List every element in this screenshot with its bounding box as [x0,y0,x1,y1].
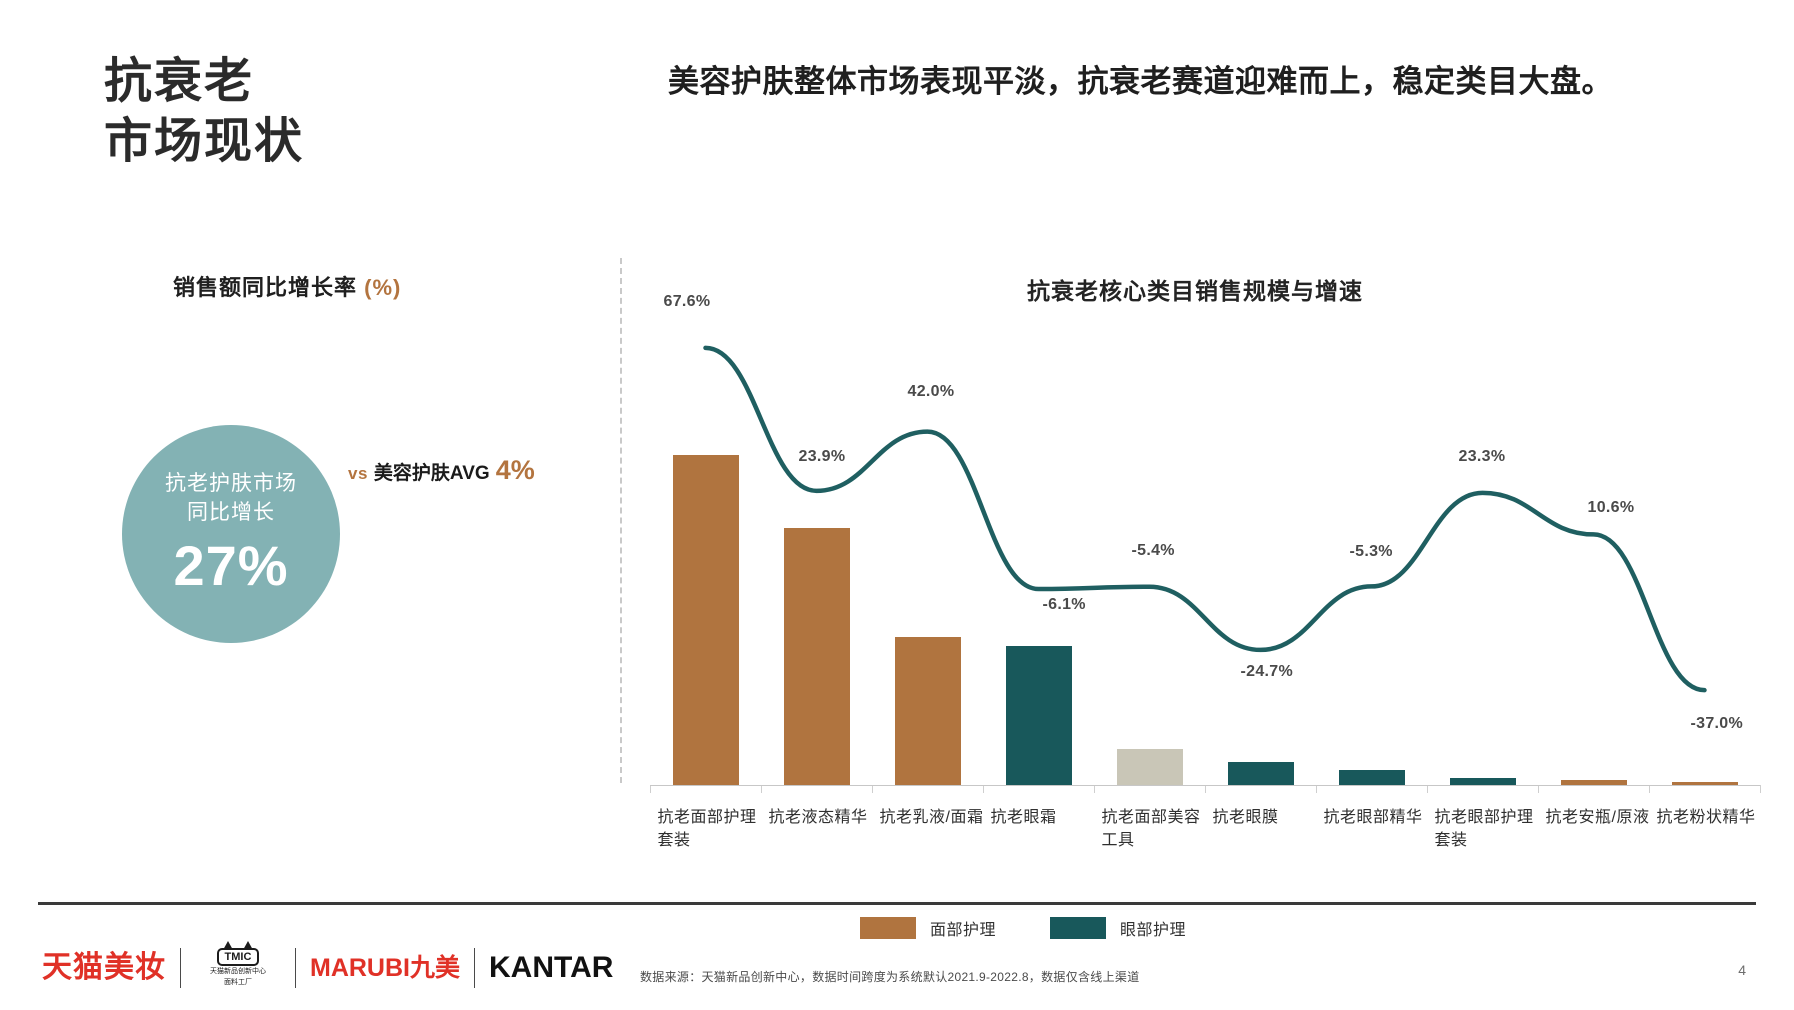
chart-data-label: 67.6% [664,293,711,311]
chart-axis-tick [1427,785,1428,793]
kantar-logo: KANTAR [489,953,613,983]
chart-category-label: 抗老眼部精华 [1324,806,1428,829]
chart-category-label: 抗老眼霜 [991,806,1095,829]
chart-data-label: -5.4% [1132,542,1175,560]
vertical-divider [620,258,622,783]
headline-text: 美容护肤整体市场表现平淡，抗衰老赛道迎难而上，稳定类目大盘。 [668,60,1618,105]
chart-data-label: 42.0% [908,383,955,401]
chart-data-label: -24.7% [1241,663,1294,681]
chart-axis-tick [1760,785,1761,793]
brand-separator-1 [180,948,181,988]
marubi-logo: MARUBI九美 [310,956,460,981]
chart-data-label: -37.0% [1691,715,1744,733]
chart-x-axis [650,785,1760,786]
chart-legend: 面部护理眼部护理 [860,916,1186,940]
chart-axis-tick [1649,785,1650,793]
chart-category-label: 抗老液态精华 [769,806,873,829]
footer-brand-row: 天猫美妆 TMIC 天猫新品创新中心 面料工厂 MARUBI九美 KANTAR [42,946,613,990]
chart-category-label: 抗老乳液/面霜 [880,806,984,829]
kpi-title-text: 销售额同比增长率 [173,275,357,300]
chart-canvas: 67.6%23.9%42.0%-6.1%-5.4%-24.7%-5.3%23.3… [650,300,1760,785]
legend-item: 眼部护理 [1050,916,1186,940]
chart-data-label: 23.9% [799,448,846,466]
chart-axis-tick [1316,785,1317,793]
tmic-badge-text: TMIC [217,948,260,966]
chart-line-series [650,300,1760,785]
chart-axis-tick [650,785,651,793]
chart-axis-tick [983,785,984,793]
kpi-comparison-label: 美容护肤AVG [374,463,490,484]
chart-category-labels: 抗老面部护理套装抗老液态精华抗老乳液/面霜抗老眼霜抗老面部美容工具抗老眼膜抗老眼… [650,806,1760,876]
kpi-title-unit: (%) [364,275,401,300]
chart-category-label: 抗老面部美容工具 [1102,806,1206,852]
chart-data-label: 10.6% [1588,499,1635,517]
chart-category-label: 抗老粉状精华 [1657,806,1761,829]
kpi-comparison-vs: vs [348,464,368,483]
chart-axis-tick [1094,785,1095,793]
chart-axis-tick [872,785,873,793]
legend-swatch [860,917,916,939]
chart-plot-area: 67.6%23.9%42.0%-6.1%-5.4%-24.7%-5.3%23.3… [650,300,1760,785]
kpi-circle-label-1: 抗老护肤市场 [165,470,297,498]
slide-root: 抗衰老 市场现状 美容护肤整体市场表现平淡，抗衰老赛道迎难而上，稳定类目大盘。 … [0,0,1794,1010]
chart-data-label: 23.3% [1459,448,1506,466]
legend-label: 眼部护理 [1120,916,1186,940]
legend-label: 面部护理 [930,916,996,940]
marubi-logo-cn: 九美 [410,954,460,982]
chart-axis-tick [1538,785,1539,793]
footer-divider [38,902,1756,905]
chart-data-label: -6.1% [1043,596,1086,614]
kpi-comparison-value: 4% [496,455,535,485]
kpi-circle-label-2: 同比增长 [187,499,275,527]
tmic-logo: TMIC 天猫新品创新中心 面料工厂 [195,948,281,988]
chart-category-label: 抗老安瓶/原液 [1546,806,1650,829]
page-title-line-2: 市场现状 [104,112,304,172]
legend-swatch [1050,917,1106,939]
kpi-circle: 抗老护肤市场 同比增长 27% [122,425,340,643]
page-number: 4 [1738,962,1746,978]
kpi-comparison: vs美容护肤AVG4% [348,455,535,486]
chart-data-label: -5.3% [1350,543,1393,561]
chart-axis-tick [1205,785,1206,793]
kpi-circle-value: 27% [173,533,288,598]
chart-axis-tick [761,785,762,793]
tmall-beauty-logo: 天猫美妆 [42,953,166,983]
marubi-logo-en: MARUBI [310,954,410,982]
page-title: 抗衰老 市场现状 [104,52,304,173]
tmic-sub-1: 天猫新品创新中心 [210,968,266,977]
tmic-sub-2: 面料工厂 [224,979,252,988]
kpi-title: 销售额同比增长率 (%) [173,270,401,302]
source-note: 数据来源：天猫新品创新中心，数据时间跨度为系统默认2021.9-2022.8，数… [640,968,1140,985]
chart-category-label: 抗老面部护理套装 [658,806,762,852]
page-title-line-1: 抗衰老 [104,52,304,112]
brand-separator-3 [474,948,475,988]
legend-item: 面部护理 [860,916,996,940]
chart-category-label: 抗老眼膜 [1213,806,1317,829]
chart-category-label: 抗老眼部护理套装 [1435,806,1539,852]
brand-separator-2 [295,948,296,988]
